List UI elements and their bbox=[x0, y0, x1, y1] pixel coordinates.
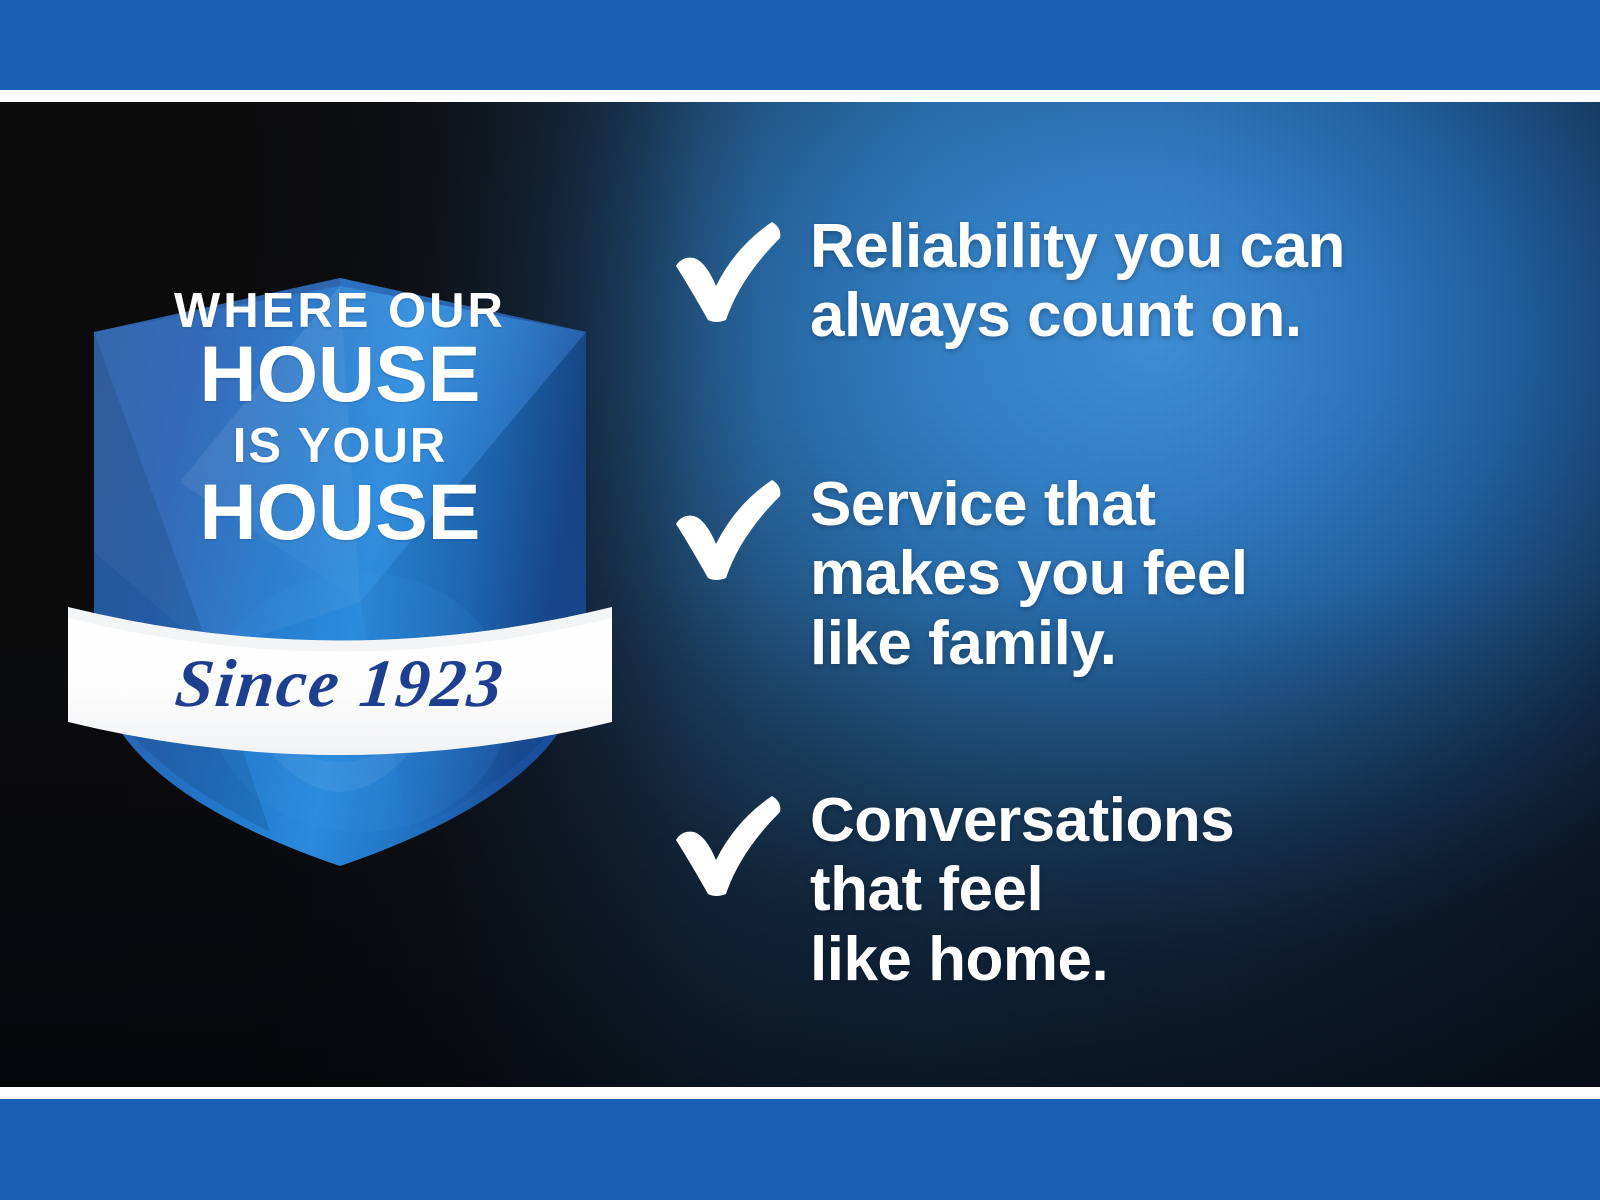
benefit-line: Service that bbox=[810, 470, 1248, 539]
checkmark-icon bbox=[660, 470, 810, 584]
company-badge: WHERE OUR HOUSE IS YOUR HOUSE Since 1923 bbox=[60, 182, 620, 862]
benefits-list: Reliability you can always count on. Ser… bbox=[660, 102, 1540, 1087]
benefit-item-conversations: Conversations that feel like home. bbox=[660, 786, 1234, 994]
checkmark-icon bbox=[660, 212, 810, 326]
benefit-text-conversations: Conversations that feel like home. bbox=[810, 786, 1234, 994]
benefit-text-reliability: Reliability you can always count on. bbox=[810, 212, 1345, 351]
top-border-bar bbox=[0, 0, 1600, 90]
benefit-item-service: Service that makes you feel like family. bbox=[660, 470, 1248, 678]
benefit-line: makes you feel bbox=[810, 539, 1248, 608]
benefit-text-service: Service that makes you feel like family. bbox=[810, 470, 1248, 678]
top-white-divider bbox=[0, 90, 1600, 102]
benefit-line: like family. bbox=[810, 609, 1248, 678]
benefit-line: like home. bbox=[810, 925, 1234, 994]
bottom-white-divider bbox=[0, 1087, 1600, 1099]
benefit-item-reliability: Reliability you can always count on. bbox=[660, 212, 1345, 351]
benefit-line: Conversations bbox=[810, 786, 1234, 855]
benefit-line: always count on. bbox=[810, 281, 1345, 350]
benefit-line: that feel bbox=[810, 855, 1234, 924]
bottom-border-bar bbox=[0, 1099, 1600, 1200]
promo-graphic: WHERE OUR HOUSE IS YOUR HOUSE Since 1923… bbox=[0, 0, 1600, 1200]
benefit-line: Reliability you can bbox=[810, 212, 1345, 281]
checkmark-icon bbox=[660, 786, 810, 900]
